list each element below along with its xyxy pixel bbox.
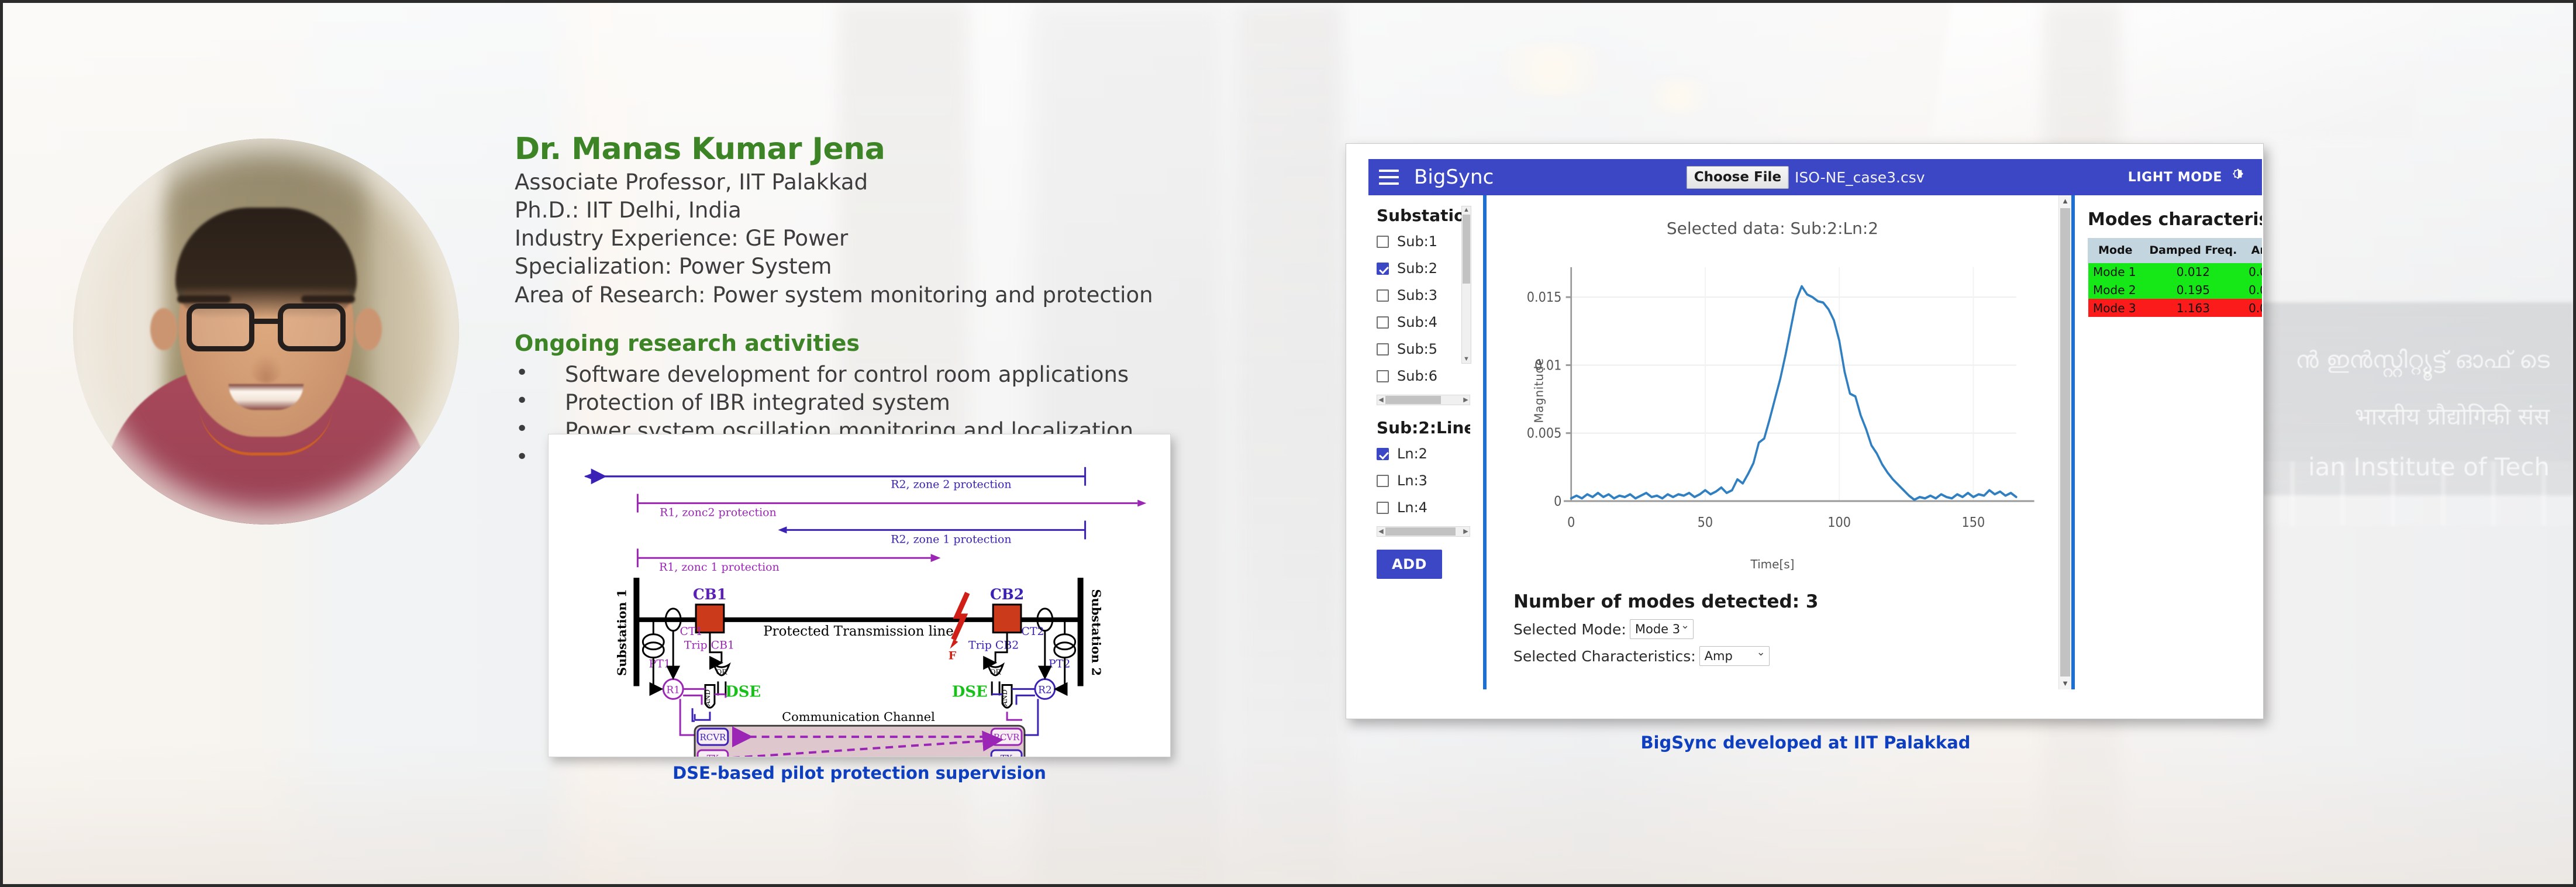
zone-arrow-r1-zone1: R1, zonc 1 protection bbox=[637, 548, 940, 574]
file-picker-group: Choose File ISO-NE_case3.csv bbox=[1687, 166, 1925, 189]
scroll-left-arrow-icon[interactable]: ◀ bbox=[1377, 527, 1385, 536]
scroll-up-arrow-icon[interactable]: ▲ bbox=[2059, 195, 2071, 207]
svg-text:50: 50 bbox=[1698, 515, 1713, 530]
scrollbar-thumb[interactable] bbox=[1463, 215, 1470, 284]
sidebar-item-ln-2[interactable]: Ln:2 bbox=[1377, 446, 1470, 462]
svg-text:0: 0 bbox=[1567, 515, 1575, 530]
svg-text:Trip CB2: Trip CB2 bbox=[968, 639, 1019, 652]
sidebar-item-sub-2[interactable]: Sub:2 bbox=[1377, 260, 1470, 277]
column-header-mode: Mode bbox=[2088, 239, 2143, 263]
substation-panel: Substation Sub:1 Sub:2 Sub:3 bbox=[1377, 206, 1483, 384]
chart-x-axis-label: Time[s] bbox=[1487, 557, 2058, 571]
chart-vertical-scrollbar[interactable]: ▲ ▼ bbox=[2058, 195, 2071, 689]
transmission-line-label: Protected Transmission line bbox=[763, 624, 954, 639]
substation-2-label: Substation 2 bbox=[1089, 589, 1104, 676]
sidebar-item-sub-3[interactable]: Sub:3 bbox=[1377, 287, 1470, 303]
app-body: Substation Sub:1 Sub:2 Sub:3 bbox=[1368, 195, 2262, 689]
scroll-left-arrow-icon[interactable]: ◀ bbox=[1377, 395, 1385, 405]
svg-text:R1, zonc2 protection: R1, zonc2 protection bbox=[660, 506, 777, 519]
communication-channel-label: Communication Channel bbox=[782, 710, 935, 724]
svg-text:100: 100 bbox=[1827, 515, 1851, 530]
choose-file-button[interactable]: Choose File bbox=[1687, 166, 1789, 189]
selected-mode-dropdown[interactable]: Mode 3 bbox=[1630, 619, 1694, 639]
svg-text:R1, zonc 1 protection: R1, zonc 1 protection bbox=[659, 561, 780, 574]
sidebar-item-ln-4[interactable]: Ln:4 bbox=[1377, 499, 1470, 516]
svg-text:R2: R2 bbox=[1038, 684, 1052, 695]
svg-text:OR: OR bbox=[990, 668, 1002, 677]
cell-mode: Mode 1 bbox=[2088, 263, 2143, 281]
avatar bbox=[73, 139, 459, 524]
profile-line-3: Specialization: Power System bbox=[515, 253, 1298, 281]
zone-arrow-r2-zone1: R2, zone 1 protection bbox=[778, 520, 1085, 546]
sidebar: Substation Sub:1 Sub:2 Sub:3 bbox=[1368, 195, 1483, 689]
cell-damped-freq: 1.163 bbox=[2143, 299, 2243, 317]
substation-list-horizontal-scrollbar[interactable]: ◀ ▶ bbox=[1377, 395, 1470, 405]
or-gate-1: OR bbox=[714, 665, 729, 677]
svg-text:R1: R1 bbox=[666, 684, 680, 695]
svg-text:PT1: PT1 bbox=[649, 658, 671, 671]
label-ln-2: Ln:2 bbox=[1397, 446, 1427, 462]
svg-text:CT2: CT2 bbox=[1021, 625, 1044, 638]
label-sub-2: Sub:2 bbox=[1397, 260, 1437, 277]
scroll-right-arrow-icon[interactable]: ▶ bbox=[1462, 527, 1470, 536]
profile-line-0: Associate Professor, IIT Palakkad bbox=[515, 168, 1298, 196]
lines-panel-title: Sub:2:Lines bbox=[1377, 418, 1470, 437]
protection-diagram-card: R2, zone 2 protection R1, zonc2 protecti… bbox=[548, 434, 1171, 757]
add-button[interactable]: ADD bbox=[1377, 550, 1442, 579]
svg-text:PT2: PT2 bbox=[1049, 658, 1070, 671]
cell-amp: 0.001 bbox=[2244, 263, 2262, 281]
scroll-down-arrow-icon[interactable]: ▼ bbox=[1462, 356, 1471, 363]
substation-panel-title: Substation bbox=[1377, 206, 1470, 225]
checkbox-sub-5[interactable] bbox=[1377, 343, 1389, 356]
sidebar-item-sub-1[interactable]: Sub:1 bbox=[1377, 233, 1470, 250]
profile-line-1: Ph.D.: IIT Delhi, India bbox=[515, 196, 1298, 225]
selected-file-name: ISO-NE_case3.csv bbox=[1795, 169, 1925, 186]
lines-list-horizontal-scrollbar[interactable]: ◀ ▶ bbox=[1377, 526, 1470, 537]
modes-table-title: Modes characterisation bbox=[2088, 209, 2262, 230]
checkbox-sub-6[interactable] bbox=[1377, 370, 1389, 382]
profile-line-2: Industry Experience: GE Power bbox=[515, 225, 1298, 253]
scrollbar-thumb[interactable] bbox=[2060, 208, 2070, 677]
svg-text:150: 150 bbox=[1962, 515, 1985, 530]
checkbox-ln-4[interactable] bbox=[1377, 502, 1389, 514]
cell-mode: Mode 3 bbox=[2088, 299, 2143, 317]
svg-text:R2, zone 2 protection: R2, zone 2 protection bbox=[891, 478, 1011, 491]
checkbox-ln-3[interactable] bbox=[1377, 475, 1389, 487]
app-caption: BigSync developed at IIT Palakkad bbox=[1348, 733, 2263, 753]
svg-text:0.005: 0.005 bbox=[1527, 426, 1562, 441]
svg-text:0.015: 0.015 bbox=[1527, 290, 1562, 305]
scrollbar-thumb[interactable] bbox=[1385, 527, 1456, 536]
checkbox-sub-4[interactable] bbox=[1377, 316, 1389, 329]
light-mode-toggle[interactable]: LIGHT MODE bbox=[2128, 167, 2247, 188]
sidebar-item-ln-3[interactable]: Ln:3 bbox=[1377, 472, 1470, 489]
cell-damped-freq: 0.012 bbox=[2143, 263, 2243, 281]
modes-detected-text: Number of modes detected: 3 bbox=[1513, 591, 2058, 612]
and-gate-2: AND bbox=[1001, 685, 1012, 707]
substation-list-vertical-scrollbar[interactable]: ▲ ▼ bbox=[1461, 206, 1471, 364]
label-sub-5: Sub:5 bbox=[1397, 341, 1437, 357]
table-row: Mode 1 0.012 0.001 2.87 bbox=[2088, 263, 2263, 281]
slide-canvas: ൻ ഇൻസ്റ്റിറ്റ്യൂട്ട് ഓഫ് ടെ भारतीय प्रौद… bbox=[0, 0, 2576, 887]
column-header-amp: Amp bbox=[2244, 239, 2262, 263]
modes-table: Mode Damped Freq. Amp Theta Mode 1 0.012… bbox=[2088, 238, 2262, 317]
lines-panel: Sub:2:Lines Ln:2 Ln:3 Ln:4 bbox=[1377, 418, 1483, 516]
svg-text:R2, zone 1 protection: R2, zone 1 protection bbox=[891, 533, 1011, 546]
svg-text:TX: TX bbox=[1001, 753, 1013, 757]
svg-text:0: 0 bbox=[1554, 494, 1561, 509]
table-row: Mode 3 1.163 0.004 2.55 bbox=[2088, 299, 2263, 317]
scroll-down-arrow-icon[interactable]: ▼ bbox=[2059, 678, 2071, 689]
svg-text:AND: AND bbox=[1001, 689, 1009, 707]
sidebar-item-sub-5[interactable]: Sub:5 bbox=[1377, 341, 1470, 357]
hamburger-icon[interactable] bbox=[1379, 170, 1399, 185]
svg-text:DSE: DSE bbox=[952, 683, 988, 700]
checkbox-sub-3[interactable] bbox=[1377, 289, 1389, 302]
label-sub-1: Sub:1 bbox=[1397, 233, 1437, 250]
substation-1-label: Substation 1 bbox=[614, 589, 629, 676]
label-sub-3: Sub:3 bbox=[1397, 287, 1437, 303]
chart-title: Selected data: Sub:2:Ln:2 bbox=[1487, 195, 2058, 238]
list-item: Protection of IBR integrated system bbox=[515, 389, 1298, 417]
chart-y-axis-label: Magnitude bbox=[1532, 358, 1546, 423]
list-item: Software development for control room ap… bbox=[515, 361, 1298, 389]
chart-panel: Selected data: Sub:2:Ln:2 Magnitude 00.0… bbox=[1487, 195, 2071, 689]
selected-characteristics-label: Selected Characteristics: bbox=[1513, 648, 1696, 665]
scroll-up-arrow-icon[interactable]: ▲ bbox=[1462, 206, 1471, 214]
sidebar-item-sub-4[interactable]: Sub:4 bbox=[1377, 314, 1470, 330]
modes-summary: Number of modes detected: 3 Selected Mod… bbox=[1513, 591, 2058, 666]
checkbox-ln-2[interactable] bbox=[1377, 448, 1389, 460]
label-sub-6: Sub:6 bbox=[1397, 368, 1437, 384]
selected-characteristics-dropdown[interactable]: Amp bbox=[1699, 646, 1770, 666]
profile-line-4: Area of Research: Power system monitorin… bbox=[515, 281, 1298, 309]
cell-mode: Mode 2 bbox=[2088, 281, 2143, 299]
page-title: Dr. Manas Kumar Jena bbox=[515, 133, 1298, 166]
cell-damped-freq: 0.195 bbox=[2143, 281, 2243, 299]
svg-text:F: F bbox=[949, 650, 957, 662]
table-row: Mode 2 0.195 0.001 2.29 bbox=[2088, 281, 2263, 299]
zone-arrow-r1-zone2: R1, zonc2 protection bbox=[637, 494, 1146, 519]
label-ln-4: Ln:4 bbox=[1397, 499, 1427, 516]
light-mode-label: LIGHT MODE bbox=[2128, 170, 2222, 185]
svg-text:TX: TX bbox=[707, 753, 719, 757]
ongoing-research-heading: Ongoing research activities bbox=[515, 330, 1298, 356]
brightness-icon bbox=[2229, 167, 2247, 188]
svg-text:CB1: CB1 bbox=[693, 586, 727, 603]
or-gate-2: OR bbox=[988, 665, 1003, 677]
svg-text:CB2: CB2 bbox=[990, 586, 1024, 603]
svg-text:CT1: CT1 bbox=[680, 625, 702, 638]
svg-text:AND: AND bbox=[704, 689, 712, 707]
magnitude-plot: Magnitude 00.0050.010.015050100150 bbox=[1508, 251, 2037, 555]
zone-arrow-r2-zone2: R2, zone 2 protection bbox=[584, 467, 1085, 491]
app-header: BigSync Choose File ISO-NE_case3.csv LIG… bbox=[1368, 159, 2262, 195]
modes-characterisation-panel: Modes characterisation Mode Damped Freq.… bbox=[2075, 195, 2262, 689]
diagram-caption: DSE-based pilot protection supervision bbox=[548, 763, 1171, 783]
svg-text:DSE: DSE bbox=[725, 683, 761, 700]
sidebar-item-sub-6[interactable]: Sub:6 bbox=[1377, 368, 1470, 384]
scrollbar-thumb[interactable] bbox=[1385, 396, 1441, 404]
scroll-right-arrow-icon[interactable]: ▶ bbox=[1462, 395, 1470, 405]
bigsync-window: BigSync Choose File ISO-NE_case3.csv LIG… bbox=[1346, 143, 2264, 719]
cell-amp: 0.001 bbox=[2244, 281, 2262, 299]
svg-text:RCVR: RCVR bbox=[700, 732, 726, 743]
checkbox-sub-2[interactable] bbox=[1377, 263, 1389, 275]
svg-text:RCVR: RCVR bbox=[994, 732, 1020, 743]
svg-text:OR: OR bbox=[716, 668, 727, 677]
label-sub-4: Sub:4 bbox=[1397, 314, 1437, 330]
checkbox-sub-1[interactable] bbox=[1377, 236, 1389, 248]
label-ln-3: Ln:3 bbox=[1397, 472, 1427, 489]
app-title: BigSync bbox=[1414, 165, 1494, 189]
table-header-row: Mode Damped Freq. Amp Theta bbox=[2088, 239, 2263, 263]
selected-mode-label: Selected Mode: bbox=[1513, 621, 1626, 638]
cell-amp: 0.004 bbox=[2244, 299, 2262, 317]
column-header-damped-freq: Damped Freq. bbox=[2143, 239, 2243, 263]
profile-text-block: Dr. Manas Kumar Jena Associate Professor… bbox=[515, 133, 1298, 473]
